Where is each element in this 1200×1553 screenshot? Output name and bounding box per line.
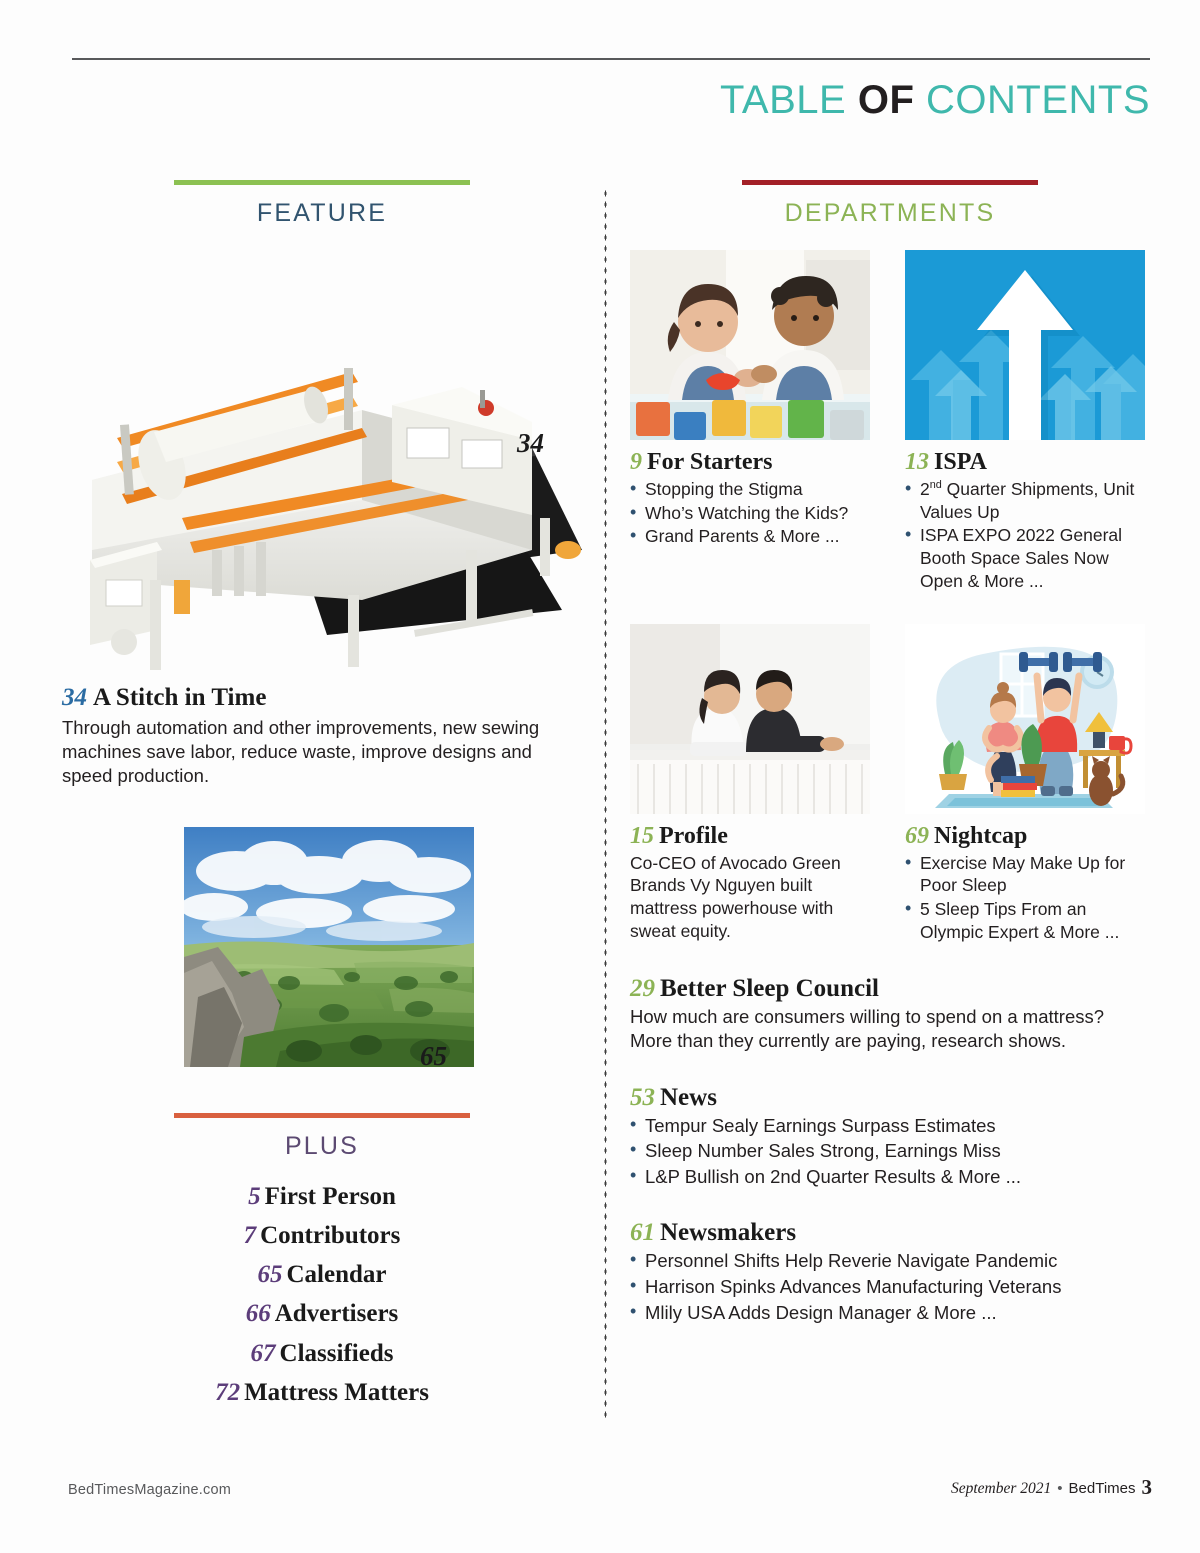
nightcap-headline: 69Nightcap: [905, 823, 1150, 850]
plus-list: 5First Person 7Contributors 65Calendar 6…: [62, 1177, 582, 1413]
news-headline: 53News: [630, 1084, 1150, 1112]
plus-page-number: 5: [248, 1183, 261, 1210]
list-item[interactable]: Sleep Number Sales Strong, Earnings Miss: [630, 1139, 1150, 1164]
profile-description: Co-CEO of Avocado Green Brands Vy Nguyen…: [630, 852, 875, 943]
list-item[interactable]: 2nd Quarter Shipments, Unit Values Up: [905, 478, 1150, 524]
toc-page: TABLE OF CONTENTS FEATURE: [0, 0, 1200, 1553]
department-better-sleep-council[interactable]: 29Better Sleep Council How much are cons…: [630, 975, 1150, 1054]
profile-image: [630, 624, 870, 814]
plus-item-title: First Person: [265, 1183, 396, 1210]
list-item[interactable]: Who’s Watching the Kids?: [630, 502, 875, 525]
profile-headline: 15Profile: [630, 823, 875, 850]
plus-section-label: PLUS: [62, 1132, 582, 1161]
for-starters-title: For Starters: [647, 449, 773, 475]
for-starters-headline: 9For Starters: [630, 449, 875, 476]
nightcap-bullets: Exercise May Make Up for Poor Sleep 5 Sl…: [905, 852, 1150, 944]
title-word-contents: CONTENTS: [926, 78, 1150, 122]
ispa-title: ISPA: [934, 449, 987, 475]
list-item[interactable]: Stopping the Stigma: [630, 478, 875, 501]
feature-callout-number: 34: [517, 428, 544, 459]
ispa-image: [905, 250, 1145, 440]
nightcap-page-number: 69: [905, 823, 929, 849]
footer-date: September 2021: [951, 1480, 1051, 1497]
departments-section-label: DEPARTMENTS: [630, 199, 1150, 228]
calendar-callout-number: 65: [420, 1041, 447, 1072]
home-exercise-illustration: [905, 624, 1145, 814]
list-item[interactable]: Tempur Sealy Earnings Surpass Estimates: [630, 1114, 1150, 1139]
plus-page-number: 67: [251, 1340, 276, 1367]
bsc-headline: 29Better Sleep Council: [630, 975, 1150, 1003]
departments-rule: [742, 180, 1038, 185]
footer-page-number: 3: [1142, 1475, 1153, 1499]
profile-page-number: 15: [630, 823, 654, 849]
footer-website[interactable]: BedTimesMagazine.com: [68, 1482, 231, 1498]
top-divider-rule: [72, 58, 1150, 60]
list-item[interactable]: 67Classifieds: [62, 1334, 582, 1373]
list-item[interactable]: 65Calendar: [62, 1255, 582, 1294]
toddlers-playing-photo: [630, 250, 870, 440]
feature-headline: 34A Stitch in Time: [62, 684, 582, 712]
newsmakers-title: Newsmakers: [660, 1219, 796, 1246]
newsmakers-bullets: Personnel Shifts Help Reverie Navigate P…: [630, 1249, 1150, 1325]
news-page-number: 53: [630, 1084, 655, 1111]
department-profile[interactable]: 15Profile Co-CEO of Avocado Green Brands…: [630, 624, 875, 945]
feature-section-label: FEATURE: [62, 199, 582, 228]
for-starters-page-number: 9: [630, 449, 642, 475]
list-item[interactable]: 72Mattress Matters: [62, 1373, 582, 1412]
list-item[interactable]: 5First Person: [62, 1177, 582, 1216]
plus-item-title: Mattress Matters: [244, 1379, 429, 1406]
calendar-image: 65: [184, 827, 474, 1067]
ispa-headline: 13ISPA: [905, 449, 1150, 476]
news-title: News: [660, 1084, 717, 1111]
title-word-of: OF: [858, 78, 915, 122]
nightcap-title: Nightcap: [934, 823, 1027, 849]
newsmakers-page-number: 61: [630, 1219, 655, 1246]
department-ispa[interactable]: 13ISPA 2nd Quarter Shipments, Unit Value…: [905, 250, 1150, 594]
column-divider: [604, 188, 607, 1418]
list-item[interactable]: Exercise May Make Up for Poor Sleep: [905, 852, 1150, 898]
feature-rule: [174, 180, 470, 185]
growth-arrow-graphic: [905, 250, 1145, 440]
feature-image: 34: [62, 250, 582, 670]
ispa-page-number: 13: [905, 449, 929, 475]
department-for-starters[interactable]: 9For Starters Stopping the Stigma Who’s …: [630, 250, 875, 594]
bsc-page-number: 29: [630, 975, 655, 1002]
plus-page-number: 65: [258, 1261, 283, 1288]
plus-item-title: Advertisers: [275, 1300, 399, 1327]
plus-page-number: 7: [244, 1222, 257, 1249]
footer-magazine: BedTimes: [1069, 1480, 1136, 1497]
green-valley-landscape-illustration: [184, 827, 474, 1067]
for-starters-bullets: Stopping the Stigma Who’s Watching the K…: [630, 478, 875, 548]
departments-column: DEPARTMENTS: [630, 180, 1150, 1326]
bsc-description: How much are consumers willing to spend …: [630, 1005, 1150, 1054]
list-item[interactable]: 7Contributors: [62, 1216, 582, 1255]
feature-title: A Stitch in Time: [93, 684, 266, 711]
list-item[interactable]: L&P Bullish on 2nd Quarter Results & Mor…: [630, 1165, 1150, 1190]
footer-separator: •: [1057, 1480, 1062, 1497]
list-item[interactable]: Harrison Spinks Advances Manufacturing V…: [630, 1275, 1150, 1300]
list-item[interactable]: 5 Sleep Tips From an Olympic Expert & Mo…: [905, 898, 1150, 944]
list-item[interactable]: 66Advertisers: [62, 1294, 582, 1333]
ispa-bullets: 2nd Quarter Shipments, Unit Values Up IS…: [905, 478, 1150, 593]
department-nightcap[interactable]: 69Nightcap Exercise May Make Up for Poor…: [905, 624, 1150, 945]
plus-page-number: 66: [246, 1300, 271, 1327]
list-item[interactable]: Mlily USA Adds Design Manager & More ...: [630, 1301, 1150, 1326]
page-title: TABLE OF CONTENTS: [720, 78, 1150, 123]
plus-rule: [174, 1113, 470, 1118]
news-bullets: Tempur Sealy Earnings Surpass Estimates …: [630, 1114, 1150, 1190]
feature-description: Through automation and other improvement…: [62, 716, 577, 789]
profile-title: Profile: [659, 823, 728, 849]
departments-row-2: 15Profile Co-CEO of Avocado Green Brands…: [630, 624, 1150, 945]
bsc-title: Better Sleep Council: [660, 975, 879, 1002]
title-word-table: TABLE: [720, 78, 846, 122]
nightcap-image: [905, 624, 1145, 814]
list-item[interactable]: Personnel Shifts Help Reverie Navigate P…: [630, 1249, 1150, 1274]
departments-row-1: 9For Starters Stopping the Stigma Who’s …: [630, 250, 1150, 594]
list-item[interactable]: ISPA EXPO 2022 General Booth Space Sales…: [905, 524, 1150, 592]
newsmakers-headline: 61Newsmakers: [630, 1219, 1150, 1247]
plus-item-title: Contributors: [260, 1222, 400, 1249]
sewing-machine-illustration: [62, 250, 582, 670]
department-news[interactable]: 53News Tempur Sealy Earnings Surpass Est…: [630, 1084, 1150, 1190]
couple-on-mattress-photo: [630, 624, 870, 814]
feature-column: FEATURE: [62, 180, 582, 1412]
list-item[interactable]: Grand Parents & More ...: [630, 525, 875, 548]
plus-page-number: 72: [215, 1379, 240, 1406]
plus-item-title: Calendar: [287, 1261, 387, 1288]
footer-credit: September 2021•BedTimes3: [951, 1475, 1152, 1500]
feature-page-number: 34: [62, 684, 87, 711]
department-newsmakers[interactable]: 61Newsmakers Personnel Shifts Help Rever…: [630, 1219, 1150, 1325]
for-starters-image: [630, 250, 870, 440]
plus-item-title: Classifieds: [280, 1340, 394, 1367]
plus-section: PLUS 5First Person 7Contributors 65Calen…: [62, 1113, 582, 1413]
